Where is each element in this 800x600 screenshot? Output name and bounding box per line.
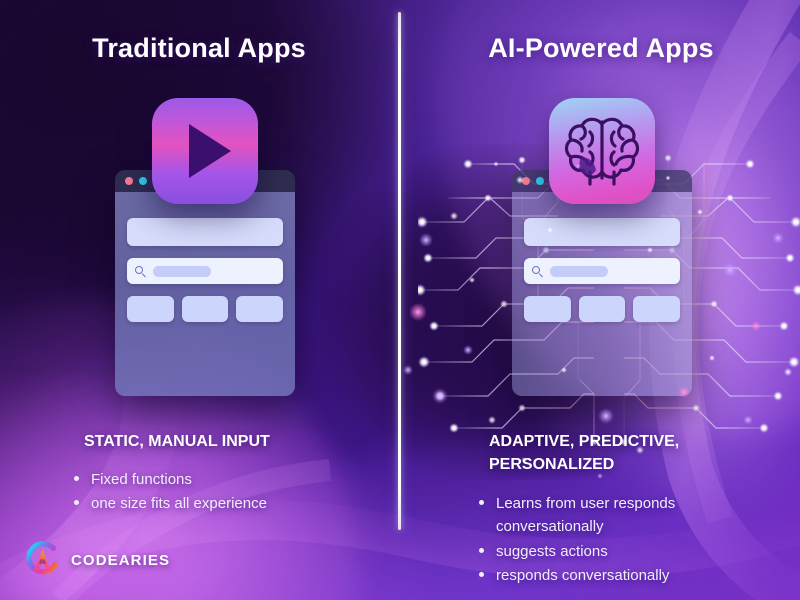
brain-icon	[549, 98, 655, 204]
play-triangle-icon	[189, 124, 231, 178]
list-item: responds conversationally	[477, 564, 777, 587]
banner-bar	[127, 218, 283, 246]
right-column-title: AI-Powered Apps	[402, 33, 800, 64]
list-item: suggests actions	[477, 540, 777, 563]
left-bullet-list: Fixed functions one size fits all experi…	[72, 468, 372, 517]
list-item: one size fits all experience	[72, 492, 372, 515]
brand-logo[interactable]: CODEARIES	[22, 539, 170, 581]
mini-button-3[interactable]	[633, 296, 680, 322]
search-bar[interactable]	[127, 258, 283, 284]
right-subtitle: ADAPTIVE, PREDICTIVE, PERSONALIZED	[489, 431, 779, 476]
window-dot-cyan-icon	[139, 177, 147, 185]
section-divider	[398, 12, 401, 530]
window-body	[512, 192, 692, 396]
left-subtitle: STATIC, MANUAL INPUT	[84, 431, 384, 454]
mini-button-2[interactable]	[182, 296, 229, 322]
search-input[interactable]	[153, 266, 211, 277]
list-item: Learns from user responds conversational…	[477, 492, 777, 539]
list-item: Fixed functions	[72, 468, 372, 491]
mini-button-1[interactable]	[524, 296, 571, 322]
banner-bar	[524, 218, 680, 246]
right-bullet-list: Learns from user responds conversational…	[477, 492, 777, 588]
codearies-mark-icon	[22, 539, 64, 581]
search-icon	[532, 266, 543, 277]
left-column-title: Traditional Apps	[0, 33, 398, 64]
play-icon	[152, 98, 258, 204]
search-icon	[135, 266, 146, 277]
button-row	[127, 296, 283, 322]
button-row	[524, 296, 680, 322]
window-dot-cyan-icon	[536, 177, 544, 185]
slide-canvas: Traditional Apps AI-Powered Apps	[0, 0, 800, 600]
brain-glyph-icon	[560, 112, 644, 190]
search-bar[interactable]	[524, 258, 680, 284]
window-dot-red-icon	[522, 177, 530, 185]
search-input[interactable]	[550, 266, 608, 277]
ai-app-mockup	[512, 170, 692, 396]
window-dot-red-icon	[125, 177, 133, 185]
logo-wordmark: CODEARIES	[71, 552, 170, 569]
mini-button-2[interactable]	[579, 296, 626, 322]
mini-button-1[interactable]	[127, 296, 174, 322]
window-body	[115, 192, 295, 396]
mini-button-3[interactable]	[236, 296, 283, 322]
traditional-app-mockup	[115, 170, 295, 396]
